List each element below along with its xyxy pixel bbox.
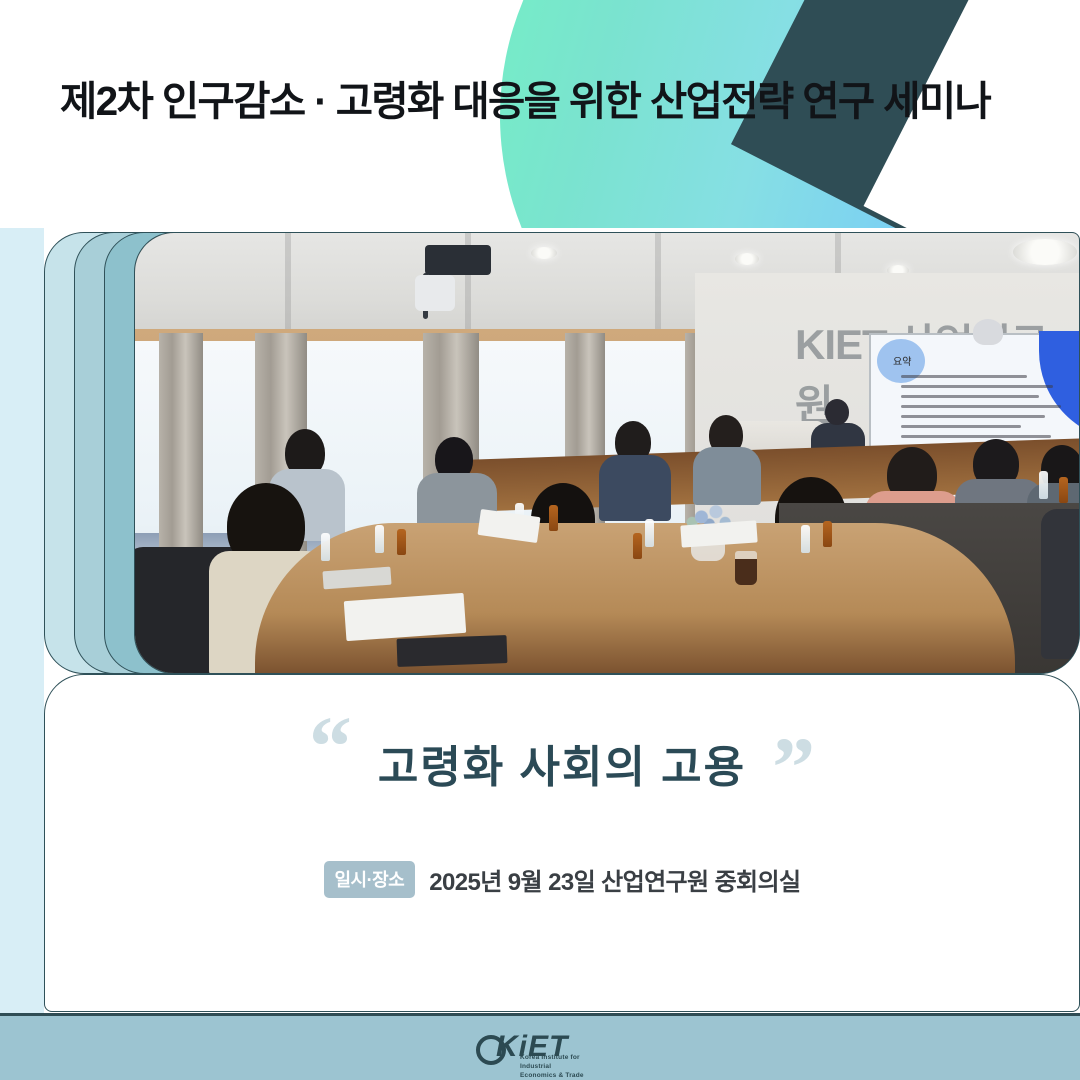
tablet-device: [397, 635, 508, 667]
logo-subtitle-line2: Economics & Trade: [520, 1072, 606, 1080]
slide-line: [901, 395, 1039, 398]
datetime-location-badge: 일시·장소: [324, 861, 416, 898]
slide-line: [901, 405, 1061, 408]
chair: [1041, 509, 1080, 659]
quote-close-icon: ”: [772, 734, 815, 801]
slide-line: [901, 425, 1021, 428]
water-bottle: [645, 519, 654, 547]
logo-subtitle: Korea Institute for Industrial Economics…: [520, 1054, 606, 1080]
ceiling-light: [531, 247, 557, 259]
drink-bottle: [549, 505, 558, 531]
water-bottle: [801, 525, 810, 553]
drink-bottle: [823, 521, 832, 547]
content-card: “ 고령화 사회의 고용 ” 일시·장소 2025년 9월 23일 산업연구원 …: [44, 674, 1080, 1012]
slide-line: [901, 375, 1027, 378]
ceiling-strip: [285, 233, 291, 343]
footer-band: KiET Korea Institute for Industrial Econ…: [0, 1013, 1080, 1080]
datetime-location-text: 2025년 9월 23일 산업연구원 중회의실: [429, 862, 800, 897]
logo-subtitle-line1: Korea Institute for Industrial: [520, 1054, 606, 1072]
kiet-logo: KiET Korea Institute for Industrial Econ…: [474, 1028, 606, 1068]
meta-block: 일시·장소 2025년 9월 23일 산업연구원 중회의실: [45, 861, 1079, 898]
poster-canvas: 제2차 인구감소 · 고령화 대응을 위한 산업전략 연구 세미나: [0, 0, 1080, 1080]
slide-line: [901, 415, 1045, 418]
quote-text: 고령화 사회의 고용: [378, 713, 746, 795]
slide-title: 요약: [893, 353, 911, 368]
seminar-photo: KIET 산업연구원 요약: [135, 233, 1079, 673]
drink-bottle: [1059, 477, 1068, 503]
iced-coffee-cup: [735, 551, 757, 585]
seminar-photo-card: KIET 산업연구원 요약: [134, 232, 1080, 674]
video-camera: [425, 245, 491, 275]
water-bottle: [1039, 471, 1048, 499]
drink-bottle: [633, 533, 642, 559]
left-accent-strip: [0, 228, 44, 1080]
ceiling-strip: [655, 233, 661, 343]
quote-block: “ 고령화 사회의 고용 ”: [45, 713, 1079, 795]
quote-open-icon: “: [309, 713, 352, 780]
ceiling-light: [735, 253, 759, 265]
ceiling-light: [1013, 239, 1077, 265]
camera-lens: [415, 275, 455, 311]
presenter-head: [825, 399, 849, 425]
slide-line: [901, 385, 1053, 388]
document-paper: [344, 593, 466, 641]
drink-bottle: [397, 529, 406, 555]
water-bottle: [321, 533, 330, 561]
ptz-camera-icon: [973, 319, 1003, 345]
water-bottle: [375, 525, 384, 553]
slide-line: [901, 435, 1051, 438]
page-title: 제2차 인구감소 · 고령화 대응을 위한 산업전략 연구 세미나: [60, 78, 1080, 126]
